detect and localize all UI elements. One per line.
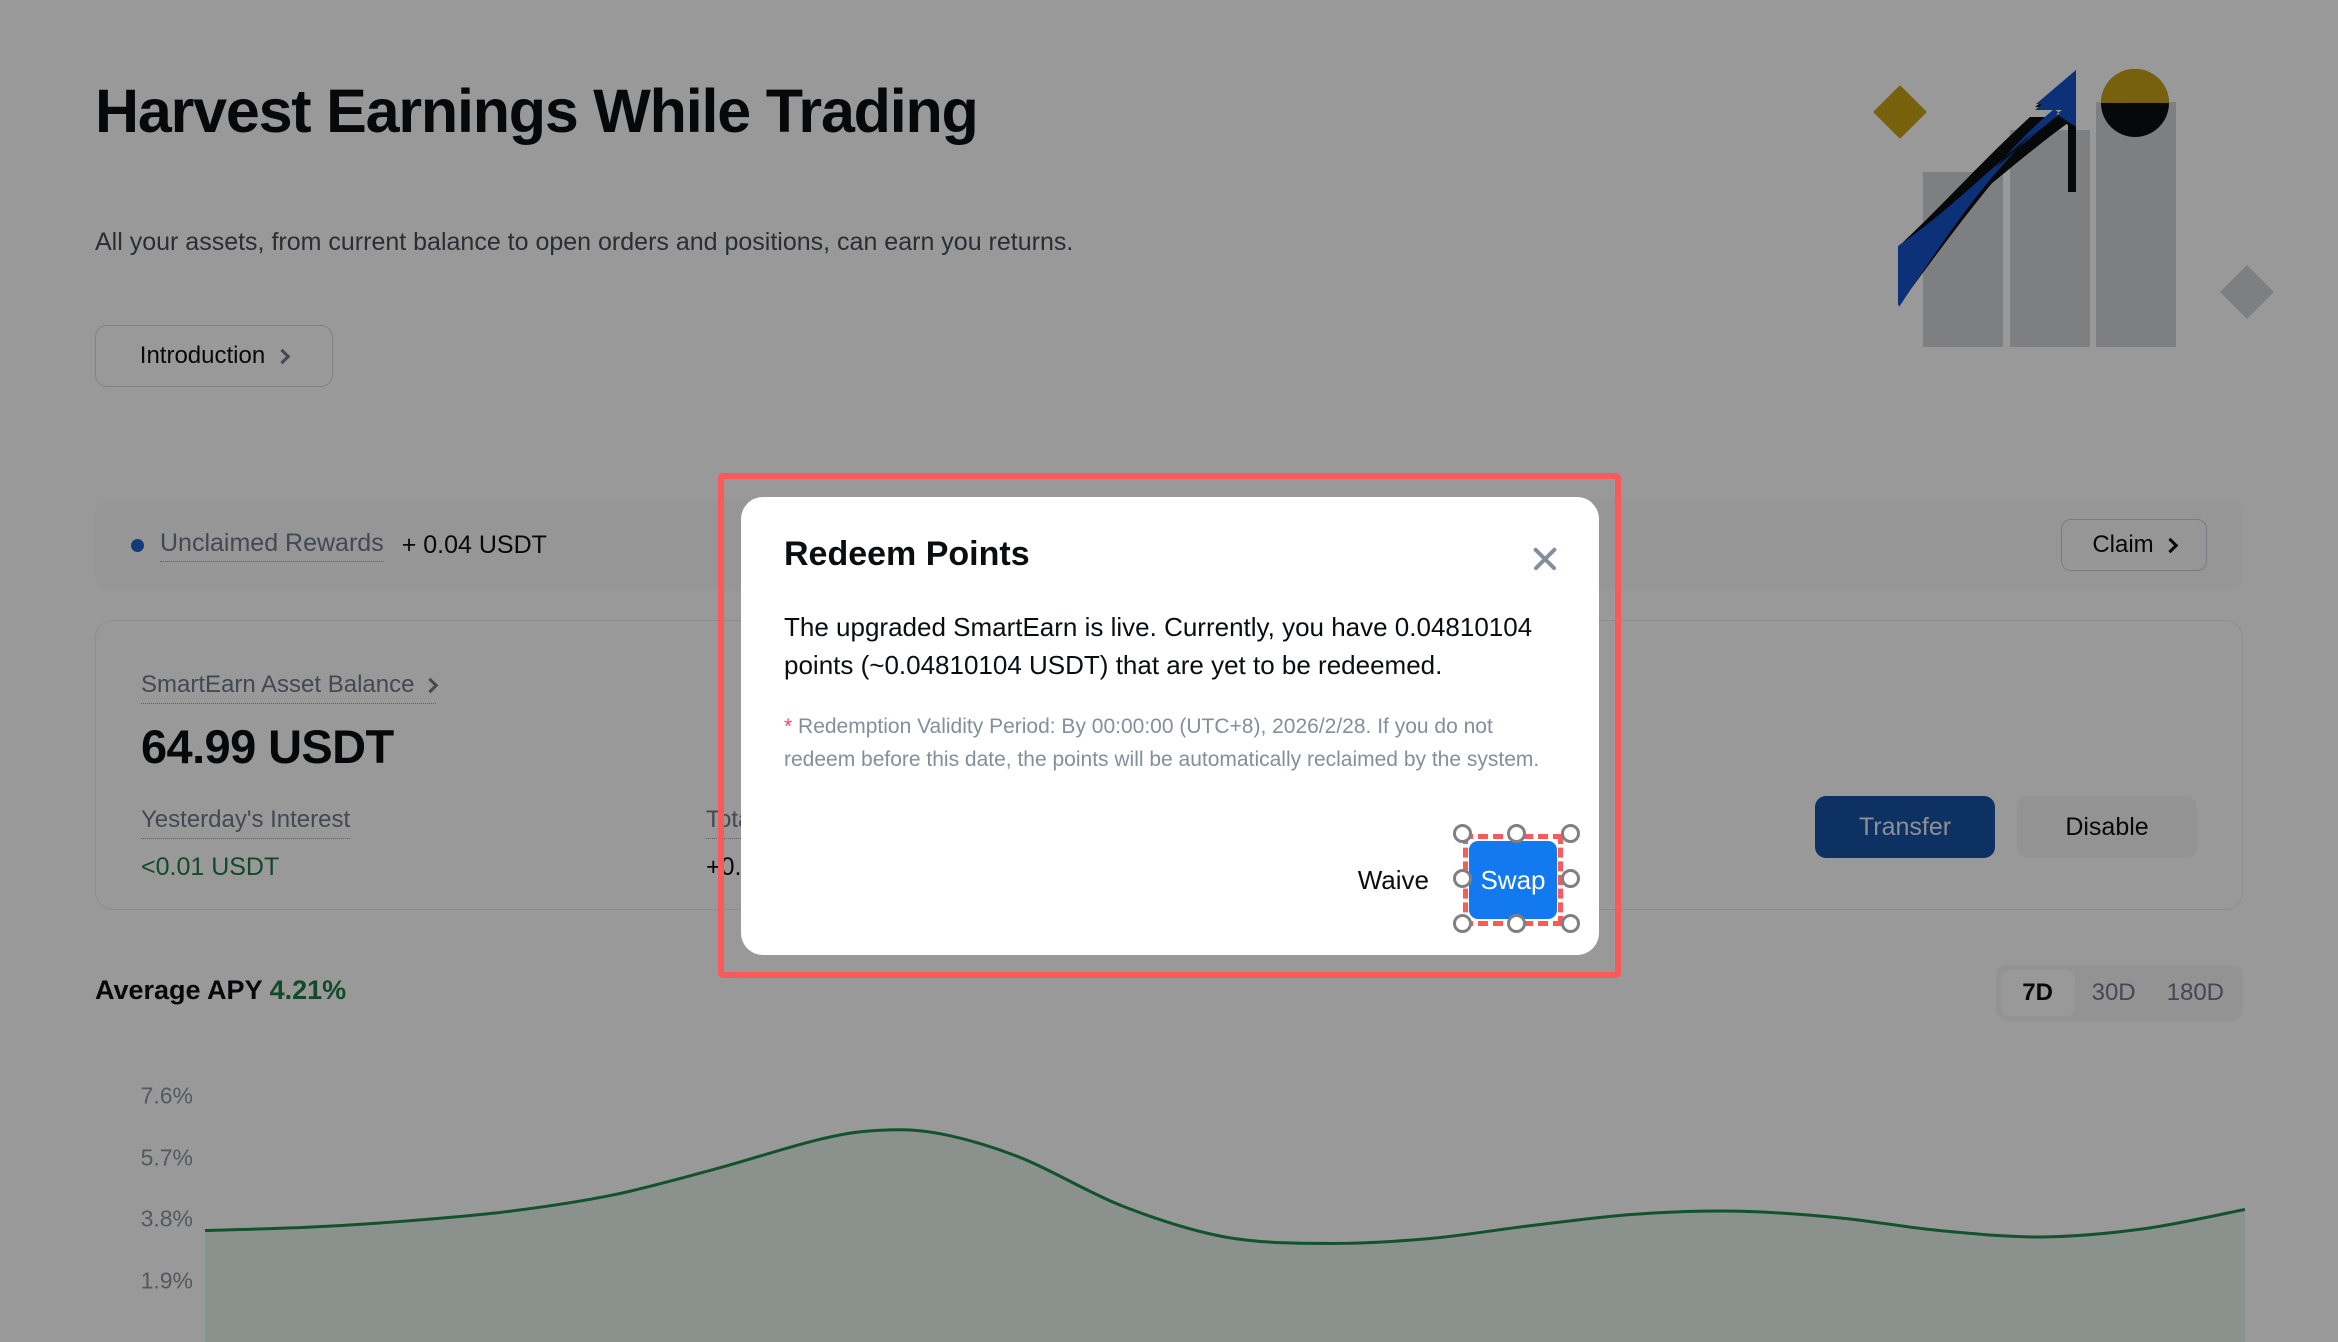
highlight-box — [718, 473, 1621, 978]
screen: Harvest Earnings While Trading All your … — [0, 0, 2338, 1342]
